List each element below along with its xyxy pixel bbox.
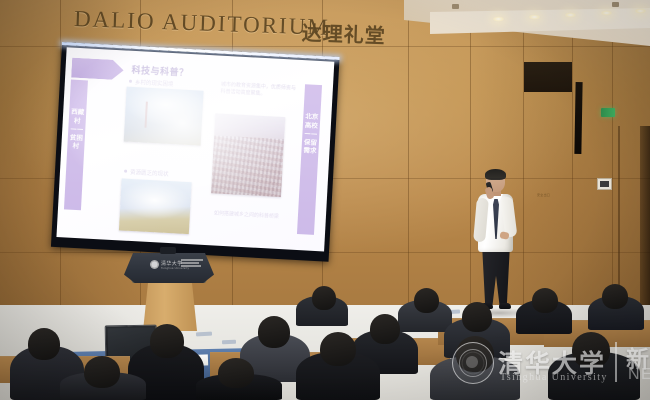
slide-chevron-shape xyxy=(71,58,124,81)
door-shadow xyxy=(640,126,650,312)
slide-bullet-icon xyxy=(129,80,132,83)
ceiling-downlight xyxy=(492,16,505,22)
ceiling-downlight xyxy=(564,12,577,18)
speaker xyxy=(470,170,526,315)
tsinghua-emblem-icon xyxy=(150,260,159,269)
floor-marking xyxy=(196,332,212,337)
slide-banner-right: 北京高校——保留需求 xyxy=(297,84,322,235)
slide-subtitle-left-2: 资源匮乏的现状 xyxy=(130,168,169,178)
audience-head xyxy=(312,286,336,310)
lectern-microphone xyxy=(160,247,176,254)
wall-recess-slot xyxy=(574,82,582,154)
slide-title: 科技与科普？ xyxy=(131,63,189,79)
audience-head xyxy=(218,358,254,388)
ceiling-downlight xyxy=(634,8,647,14)
ceiling-downlight xyxy=(600,10,613,16)
audience-head xyxy=(456,336,494,372)
speaker-shoe xyxy=(499,303,511,309)
speaker-hand xyxy=(499,231,509,239)
ceiling-downlight xyxy=(528,14,541,20)
audience-head xyxy=(258,316,290,348)
slide-body-right-2: 如何搭建城乡之间的科普桥梁 xyxy=(214,210,294,221)
audience-head xyxy=(572,332,610,368)
audience-head xyxy=(84,356,120,388)
speaker-trousers xyxy=(481,248,511,306)
slide-banner-left: 西藏村——贫困村 xyxy=(64,80,88,211)
audience-head xyxy=(462,302,492,332)
lectern-logo-chinese: 清华大学 xyxy=(161,260,183,267)
slide-banner-right-label: 北京高校——保留需求 xyxy=(301,84,322,155)
exit-sign-icon xyxy=(601,108,615,117)
lectern-secondary-logo xyxy=(181,259,203,270)
audience-head xyxy=(370,314,400,344)
ceiling-fixture xyxy=(612,2,619,7)
lectern-base xyxy=(143,279,197,331)
slide-photo-crowd xyxy=(211,113,285,197)
audience-head xyxy=(150,324,184,358)
slide-bullet-icon xyxy=(124,170,127,173)
audience-head xyxy=(532,288,558,313)
wall-control-panel[interactable] xyxy=(597,178,612,190)
auditorium-photo: DALIO AUDITORIUM 达理礼堂 安全出口 科技与科普？ 乡村的现实困… xyxy=(0,0,650,400)
audience-head xyxy=(320,332,356,366)
slide-photo-landscape xyxy=(119,178,192,234)
floor-marking xyxy=(222,340,236,344)
audience-head xyxy=(414,288,439,313)
ceiling-fixture xyxy=(452,4,459,9)
slide-photo-village xyxy=(124,87,204,146)
wall-recess-upper xyxy=(524,62,572,92)
wall-sign-label: 安全出口 xyxy=(537,193,550,197)
audience-head xyxy=(602,284,628,309)
projection-screen: 科技与科普？ 乡村的现实困境 资源匮乏的现状 城市的教育资源集中，优质师资与科普… xyxy=(51,42,340,262)
slide-surface: 科技与科普？ 乡村的现实困境 资源匮乏的现状 城市的教育资源集中，优质师资与科普… xyxy=(56,47,334,251)
slide-body-right: 城市的教育资源集中，优质师资与科普活动高度聚集。 xyxy=(220,82,297,100)
audience-head xyxy=(28,328,60,360)
slide-banner-left-label: 西藏村——贫困村 xyxy=(67,80,88,151)
auditorium-sign-chinese: 达理礼堂 xyxy=(301,17,386,49)
